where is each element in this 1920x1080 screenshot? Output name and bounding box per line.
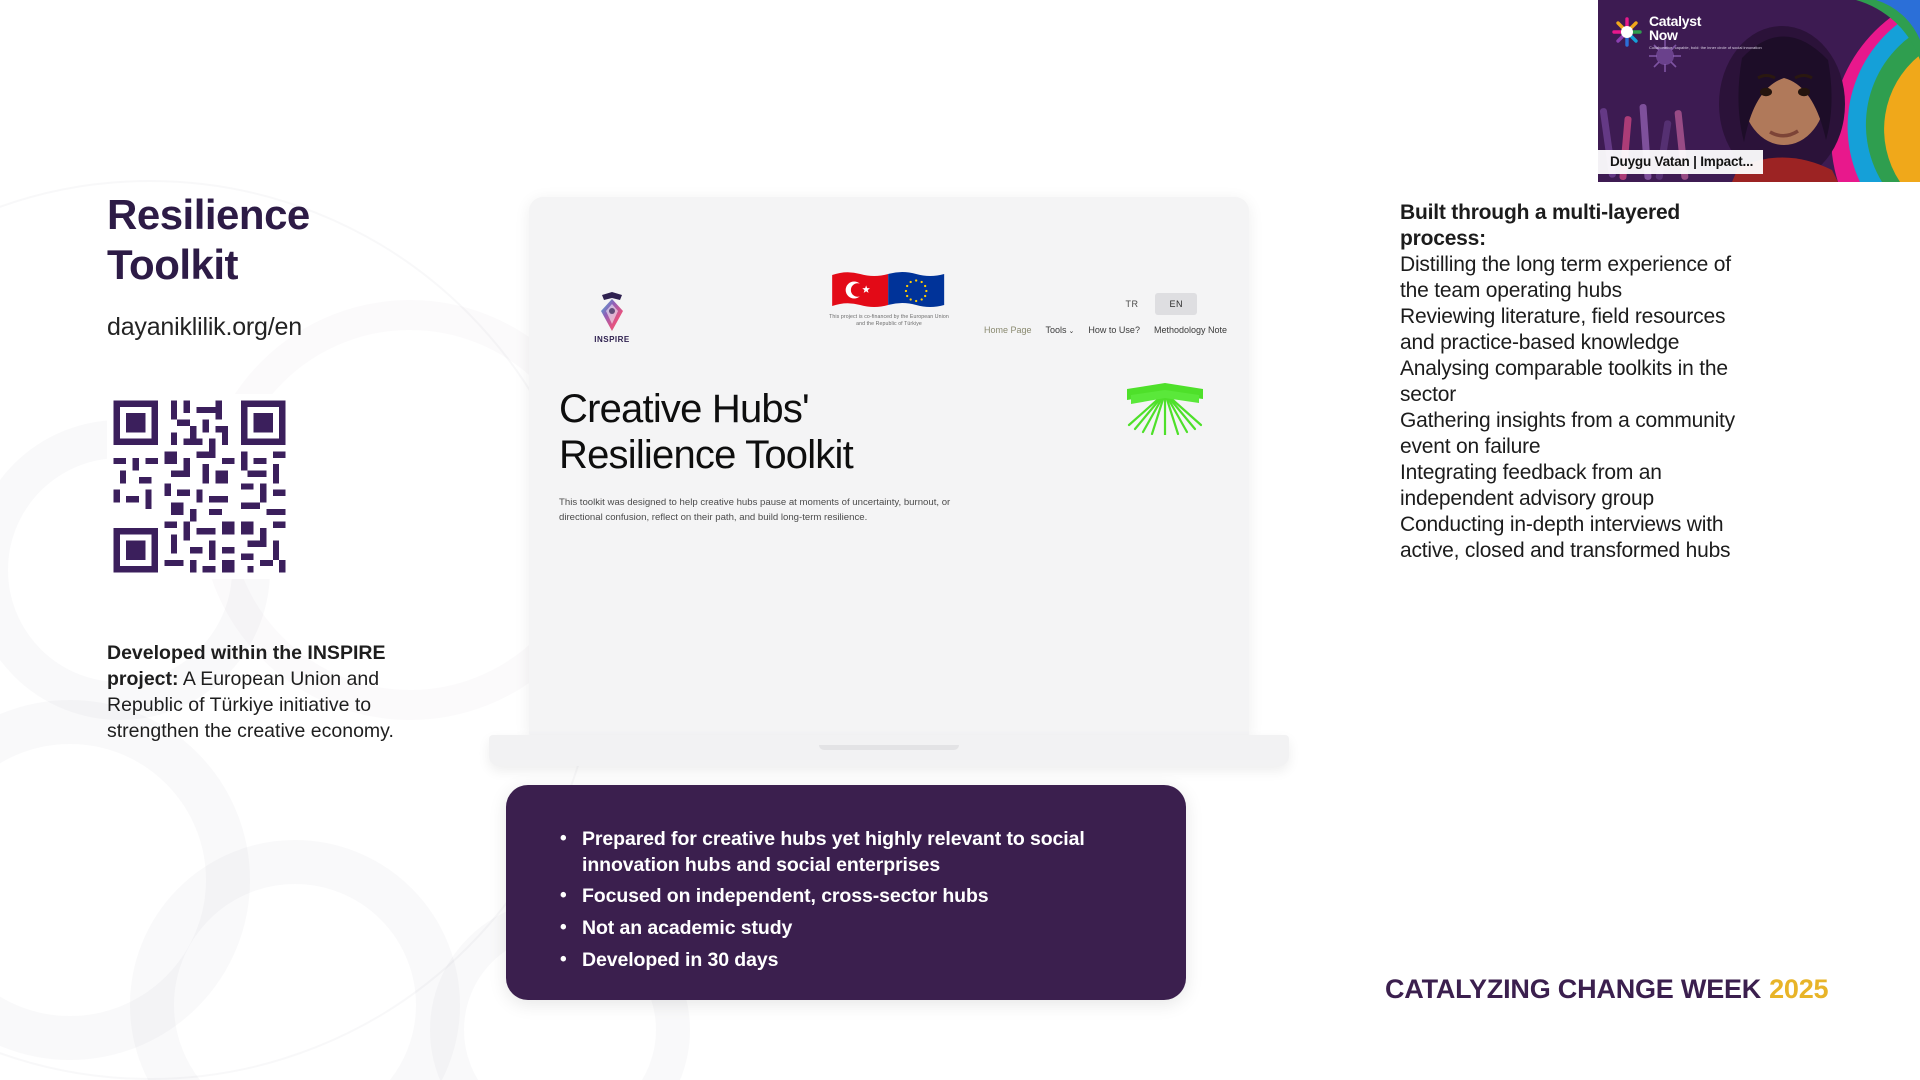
chevron-down-icon: ⌄: [1069, 328, 1075, 335]
qr-code[interactable]: [107, 394, 292, 579]
catalyst-now-logo: Catalyst Now Collaborative, capable, bol…: [1612, 14, 1762, 50]
website-hero: Creative Hubs' Resilience Toolkit This t…: [559, 387, 1219, 526]
catalyst-logo-line-1: Catalyst: [1649, 14, 1762, 28]
highlights-list: Prepared for creative hubs yet highly re…: [558, 827, 1146, 974]
inspire-logo: INSPIRE: [589, 291, 635, 344]
process-item: Reviewing literature, field resources an…: [1400, 304, 1740, 356]
qr-code-icon: [107, 394, 292, 579]
event-brand-name: CATALYZING CHANGE WEEK: [1385, 974, 1761, 1004]
list-item: Focused on independent, cross-sector hub…: [558, 884, 1146, 910]
process-item: Gathering insights from a community even…: [1400, 408, 1740, 460]
catalyst-sunburst-icon: [1612, 17, 1642, 47]
language-toggle[interactable]: TR EN: [1116, 293, 1197, 315]
nav-item-tools-label: Tools: [1046, 325, 1067, 335]
language-option-tr[interactable]: TR: [1116, 294, 1147, 314]
hero-heading-line-1: Creative Hubs': [559, 387, 1219, 433]
funding-flags: This project is co-financed by the Europ…: [829, 269, 949, 329]
page-title: Resilience Toolkit: [107, 190, 457, 289]
inspire-wordmark: INSPIRE: [589, 335, 635, 344]
event-brand-lockup: CATALYZING CHANGE WEEK2025: [1385, 974, 1828, 1005]
nav-item-tools[interactable]: Tools⌄: [1046, 325, 1075, 335]
laptop-notch: [819, 745, 959, 750]
process-item: Conducting in-depth interviews with acti…: [1400, 512, 1740, 564]
process-item: Analysing comparable toolkits in the sec…: [1400, 356, 1740, 408]
webcam-tile[interactable]: Catalyst Now Collaborative, capable, bol…: [1598, 0, 1920, 182]
hero-heading-line-2: Resilience Toolkit: [559, 433, 1219, 479]
catalyst-now-wordmark: Catalyst Now Collaborative, capable, bol…: [1649, 14, 1762, 50]
language-option-en[interactable]: EN: [1155, 293, 1197, 315]
process-item: Distilling the long term experience of t…: [1400, 252, 1740, 304]
funding-caption: This project is co-financed by the Europ…: [829, 314, 949, 329]
hero-subtext-line-2: directional confusion, reflect on their …: [559, 511, 1039, 526]
left-column: Resilience Toolkit dayaniklilik.org/en: [107, 190, 457, 745]
catalyst-logo-line-2: Now: [1649, 28, 1762, 42]
participant-name-label: Duygu Vatan | Impact...: [1598, 150, 1763, 174]
toolkit-url[interactable]: dayaniklilik.org/en: [107, 313, 457, 342]
website-preview: INSPIRE: [529, 197, 1249, 737]
event-brand-year: 2025: [1769, 974, 1828, 1004]
list-item: Prepared for creative hubs yet highly re…: [558, 827, 1146, 878]
process-item: Integrating feedback from an independent…: [1400, 460, 1740, 512]
funding-caption-line-2: and the Republic of Türkiye: [829, 321, 949, 328]
funding-caption-line-1: This project is co-financed by the Europ…: [829, 314, 949, 321]
nav-item-methodology-note[interactable]: Methodology Note: [1154, 325, 1227, 335]
highlights-card: Prepared for creative hubs yet highly re…: [506, 785, 1186, 1000]
laptop-screen: INSPIRE: [529, 197, 1249, 737]
page-title-line-2: Toolkit: [107, 240, 457, 290]
background-ring: [130, 840, 460, 1080]
nav-item-home-page[interactable]: Home Page: [984, 325, 1032, 335]
list-item: Developed in 30 days: [558, 948, 1146, 974]
process-column: Built through a multi-layered process: D…: [1400, 200, 1740, 564]
website-topbar: INSPIRE: [559, 221, 1219, 339]
catalyst-logo-tagline: Collaborative, capable, bold: the inner …: [1649, 45, 1762, 50]
inspire-project-note: Developed within the INSPIRE project: A …: [107, 641, 447, 745]
list-item: Not an academic study: [558, 916, 1146, 942]
background-ring: [0, 700, 250, 1060]
laptop-base: [489, 735, 1289, 766]
hero-subtext-line-1: This toolkit was designed to help creati…: [559, 496, 1039, 511]
laptop-mockup: INSPIRE: [489, 197, 1289, 797]
inspire-diamond-icon: [596, 291, 628, 333]
process-heading: Built through a multi-layered process:: [1400, 200, 1740, 252]
nav-item-how-to-use[interactable]: How to Use?: [1088, 325, 1140, 335]
hero-subtext: This toolkit was designed to help creati…: [559, 496, 1039, 526]
website-nav: Home Page Tools⌄ How to Use? Methodology…: [984, 325, 1227, 335]
page-title-line-1: Resilience: [107, 190, 457, 240]
hero-heading: Creative Hubs' Resilience Toolkit: [559, 387, 1219, 478]
turkey-eu-flags-icon: [830, 269, 948, 311]
